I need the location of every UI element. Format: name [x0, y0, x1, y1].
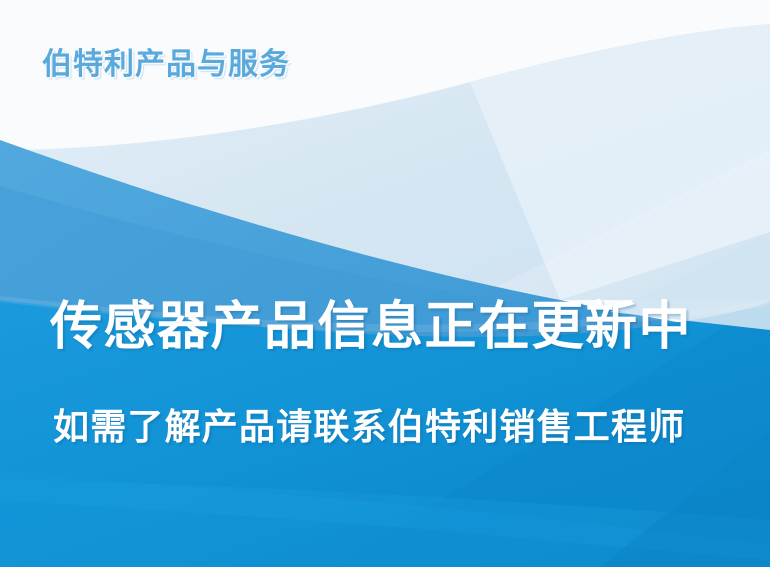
text-layer: 伯特利产品与服务 传感器产品信息正在更新中 如需了解产品请联系伯特利销售工程师 [0, 0, 770, 567]
product-banner: 伯特利产品与服务 传感器产品信息正在更新中 如需了解产品请联系伯特利销售工程师 [0, 0, 770, 567]
headline: 传感器产品信息正在更新中 [50, 296, 692, 358]
subheadline: 如需了解产品请联系伯特利销售工程师 [53, 404, 685, 450]
header-title: 伯特利产品与服务 [42, 46, 290, 84]
